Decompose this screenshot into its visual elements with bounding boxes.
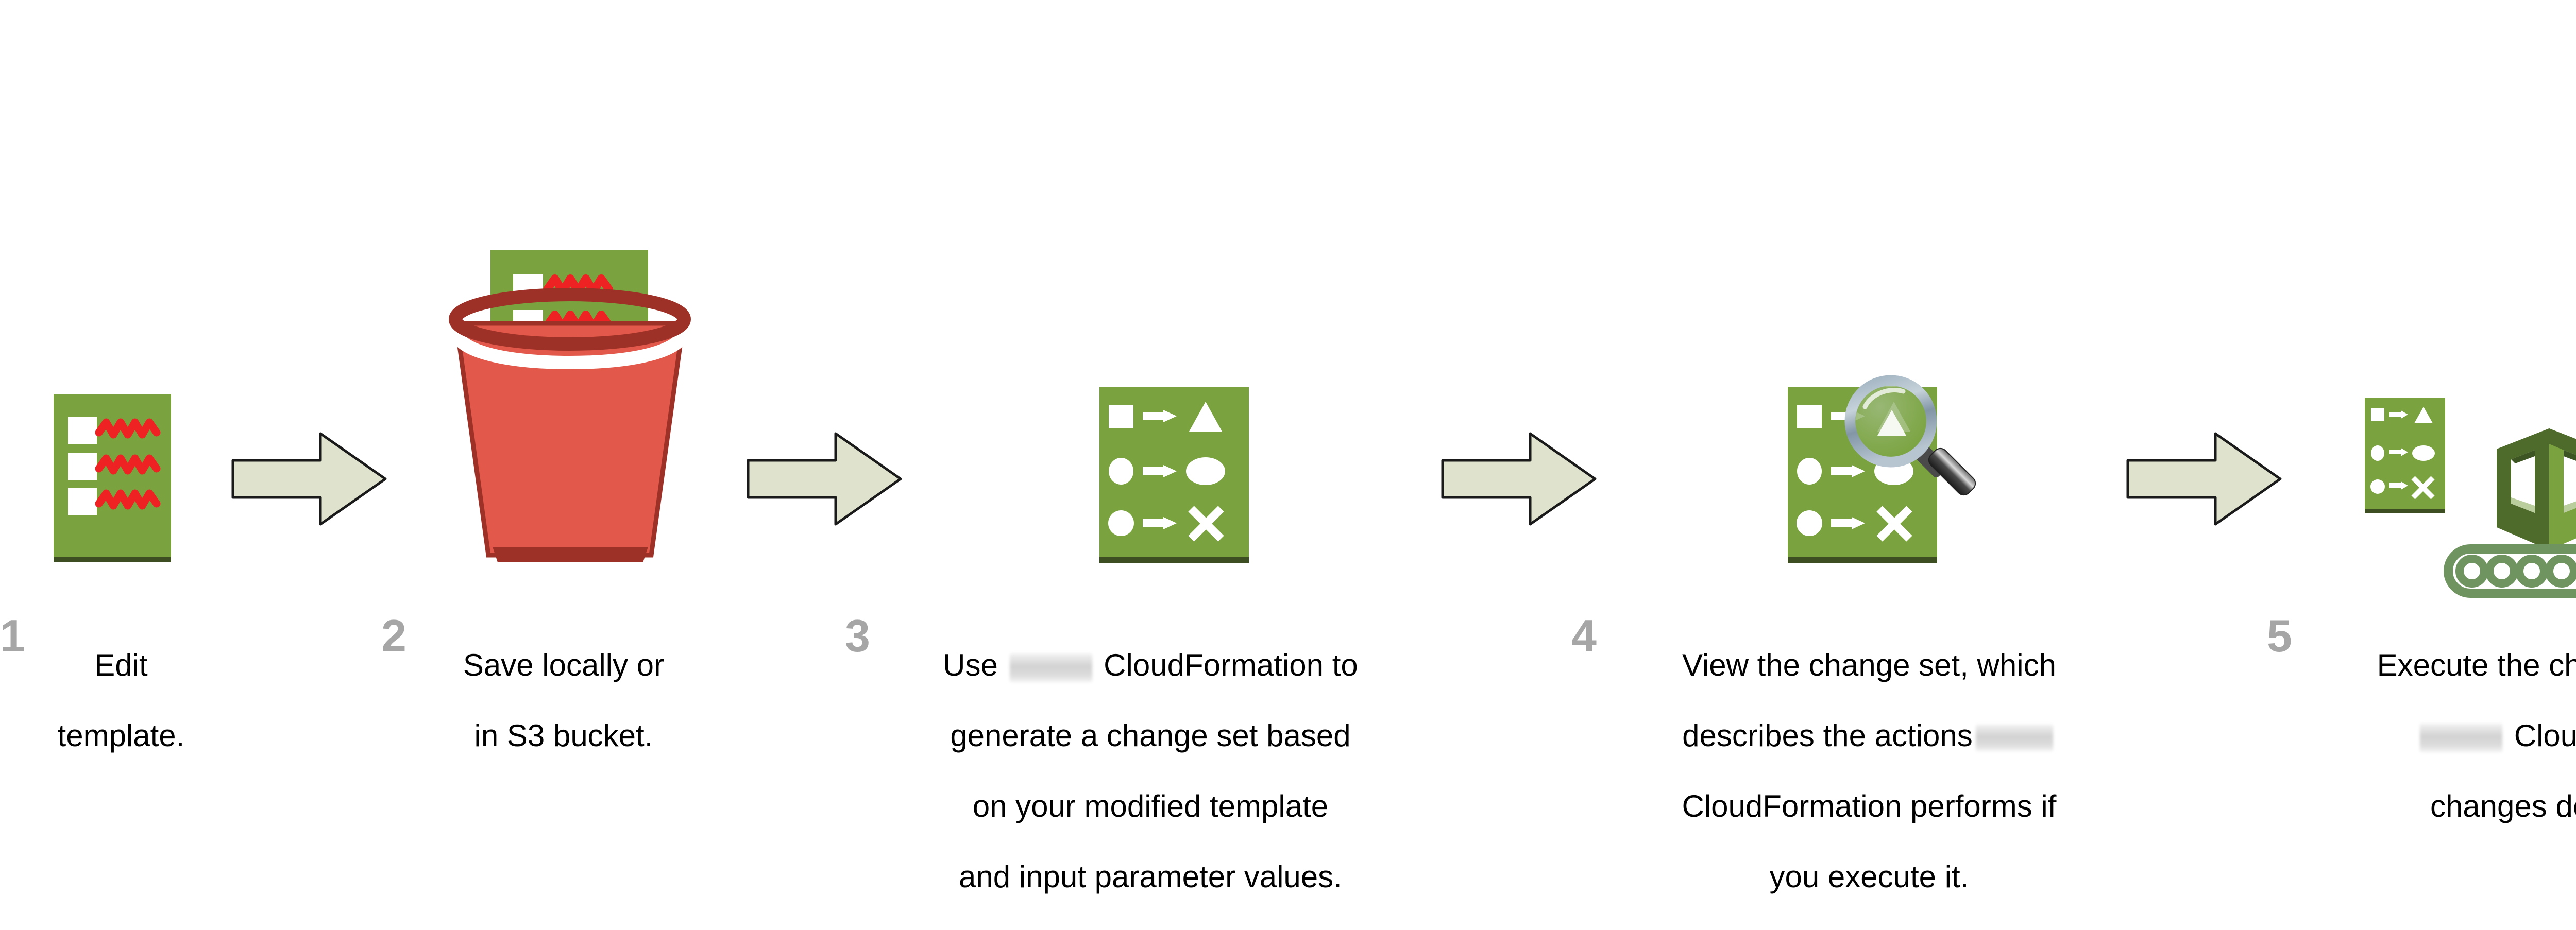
change-set-magnifier-icon-step4 xyxy=(1788,381,1978,563)
template-icon-step1 xyxy=(54,394,171,562)
step-5-line-2-post: CloudFormation performs all the xyxy=(2505,718,2576,753)
step-1-line-1: Edit xyxy=(36,648,206,683)
step-4-caption: 4 View the change set, which describes t… xyxy=(1571,613,2143,930)
step-1-text: Edit template. xyxy=(36,613,206,789)
step-3-line-2: generate a change set based xyxy=(885,718,1416,753)
step-3-line-1-pre: Use xyxy=(943,648,1006,682)
change-set-icon-step3 xyxy=(1099,387,1249,563)
redacted-brand-2 xyxy=(1976,725,2053,751)
arrow-3-to-4 xyxy=(1443,434,1595,524)
step-3-text: Use CloudFormation to generate a change … xyxy=(885,613,1416,930)
step-5-text: Execute the change set to update your st… xyxy=(2305,613,2576,859)
step-5-line-3: changes described in the change set. xyxy=(2305,789,2576,824)
step-4-line-4: you execute it. xyxy=(1612,859,2127,894)
arrow-1-to-2 xyxy=(233,434,385,524)
redacted-brand-3 xyxy=(2420,724,2502,752)
step-3-line-3: on your modified template xyxy=(885,789,1416,824)
step-2-line-2: in S3 bucket. xyxy=(419,718,708,753)
step-4-line-2: describes the actions xyxy=(1612,718,2127,753)
step-4-line-3: CloudFormation performs if xyxy=(1612,789,2127,824)
step-1-caption: 1 Edit template. xyxy=(0,613,222,789)
cloudformation-cube-base xyxy=(2497,428,2576,550)
s3-bucket-icon-step2 xyxy=(455,250,684,562)
step-5-line-2: CloudFormation performs all the xyxy=(2305,718,2576,753)
change-set-icon-step5 xyxy=(2365,398,2445,513)
step-5-caption: 5 Execute the change set to update your … xyxy=(2267,613,2576,859)
step-5-number: 5 xyxy=(2267,613,2292,659)
crane-tracks xyxy=(2448,549,2576,593)
step-2-number: 2 xyxy=(381,613,406,659)
step-2-text: Save locally or in S3 bucket. xyxy=(419,613,708,789)
step-3-line-1-post: CloudFormation to xyxy=(1095,648,1358,682)
step-1-number: 1 xyxy=(0,613,25,659)
step-1-line-2: template. xyxy=(36,718,206,753)
step-3-number: 3 xyxy=(845,613,870,659)
step-3-line-4: and input parameter values. xyxy=(885,859,1416,894)
arrow-4-to-5 xyxy=(2128,434,2280,524)
step-2-caption: 2 Save locally or in S3 bucket. xyxy=(381,613,721,789)
step-4-number: 4 xyxy=(1571,613,1596,659)
arrow-2-to-3 xyxy=(748,434,901,524)
diagram-canvas: AWS xyxy=(0,0,2576,782)
step-3-line-1: Use CloudFormation to xyxy=(885,648,1416,683)
step-4-line-1: View the change set, which xyxy=(1612,648,2127,683)
step-4-text: View the change set, which describes the… xyxy=(1612,613,2127,930)
step-5-line-1: Execute the change set to update your st… xyxy=(2305,648,2576,683)
redacted-brand-1 xyxy=(1010,653,1092,682)
step-2-line-1: Save locally or xyxy=(419,648,708,683)
step-3-caption: 3 Use CloudFormation to generate a chang… xyxy=(845,613,1432,930)
step-4-line-2-pre: describes the actions xyxy=(1682,718,1973,753)
